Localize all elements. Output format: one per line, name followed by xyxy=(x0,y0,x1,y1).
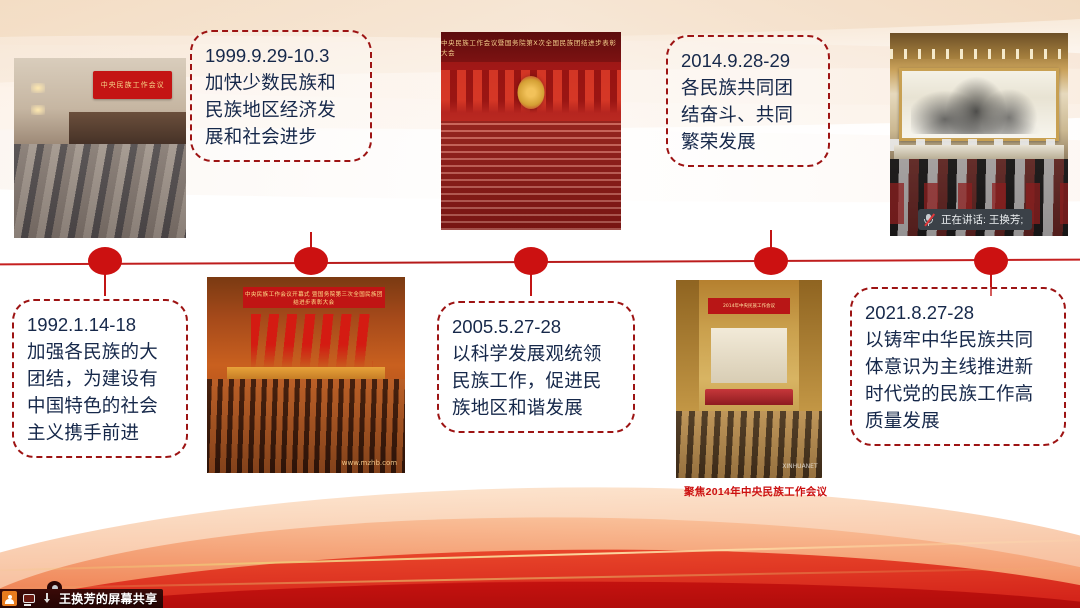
timeline-card-2021-date: 2021.8.27-28 xyxy=(865,299,1051,326)
timeline-card-2014[interactable]: 2014.9.28-29 各民族共同团 结奋斗、共同 繁荣发展 xyxy=(666,35,830,167)
timeline-card-2021-line-1: 以铸牢中华民族共同 xyxy=(865,326,1051,353)
timeline-card-1999[interactable]: 1999.9.29-10.3 加快少数民族和 民族地区经济发 展和社会进步 xyxy=(190,30,372,162)
photo-1992-conference: 中央民族工作会议 xyxy=(14,58,186,238)
timeline-card-2021-line-4: 质量发展 xyxy=(865,407,1051,434)
speaking-status-bar: 正在讲话: 王换芳; xyxy=(918,209,1032,230)
timeline-card-2014-line-3: 繁荣发展 xyxy=(681,128,815,155)
presidium-table xyxy=(705,389,793,405)
timeline-card-1992-line-1: 加强各民族的大 xyxy=(27,338,173,365)
screen-share-taskbar[interactable]: 王换芳的屏幕共享 xyxy=(0,589,163,608)
audience-seats xyxy=(14,144,186,238)
timeline-card-1999-line-2: 民族地区经济发 xyxy=(205,96,357,123)
photo-video-tile[interactable]: 正在讲话: 王换芳; xyxy=(890,33,1068,236)
red-flags xyxy=(251,314,374,369)
photo-2005-opening-ceremony: 中央民族工作会议开幕式 暨国务院第三次全国民族团结进步表彰大会 www.mzhb… xyxy=(207,277,405,473)
photo-2014-banner-text: 2014年中央民族工作会议 xyxy=(708,298,790,314)
timeline-card-2005[interactable]: 2005.5.27-28 以科学发展观统领 民族工作，促进民 族地区和谐发展 xyxy=(437,301,635,433)
timeline-card-2005-line-2: 民族工作，促进民 xyxy=(452,367,620,394)
timeline-card-1999-line-3: 展和社会进步 xyxy=(205,123,357,150)
screen-share-icon[interactable] xyxy=(21,591,36,606)
timeline-card-1992-line-3: 中国特色的社会 xyxy=(27,392,173,419)
timeline-card-2005-line-1: 以科学发展观统领 xyxy=(452,340,620,367)
timeline-node-2014[interactable] xyxy=(754,247,788,275)
screen-share-label: 王换芳的屏幕共享 xyxy=(59,590,157,607)
photo-2014-conference: 2014年中央民族工作会议 XINHUANET xyxy=(676,280,822,478)
side-panel-left xyxy=(676,280,699,423)
photo-2005-banner-text: 中央民族工作会议开幕式 暨国务院第三次全国民族团结进步表彰大会 xyxy=(243,287,386,309)
head-table xyxy=(894,145,1065,159)
mountain-artwork xyxy=(911,75,1047,134)
timeline-card-2021-line-3: 时代党的民族工作高 xyxy=(865,380,1051,407)
photo-1992-content: 中央民族工作会议 xyxy=(14,58,186,238)
chandelier-icon xyxy=(31,105,45,115)
photo-1999-content: 中央民族工作会议暨国务院第X次全国民族团结进步表彰大会 xyxy=(441,32,621,230)
speaking-label: 正在讲话: 王换芳; xyxy=(941,212,1023,227)
timeline-card-2014-line-2: 结奋斗、共同 xyxy=(681,101,815,128)
timeline-card-2014-line-1: 各民族共同团 xyxy=(681,74,815,101)
chandelier-icon xyxy=(31,83,45,93)
photo-1992-banner-text: 中央民族工作会议 xyxy=(93,71,172,100)
video-content xyxy=(890,33,1068,236)
timeline-node-1992[interactable] xyxy=(88,247,122,275)
ceiling-lights xyxy=(890,49,1068,59)
photo-1992-banner: 中央民族工作会议 xyxy=(93,71,172,100)
photo-2005-banner: 中央民族工作会议开幕式 暨国务院第三次全国民族团结进步表彰大会 xyxy=(243,287,386,309)
audience-rows xyxy=(441,121,621,230)
timeline-card-1992-line-2: 团结，为建设有 xyxy=(27,365,173,392)
timeline-card-1992[interactable]: 1992.1.14-18 加强各民族的大 团结，为建设有 中国特色的社会 主义携… xyxy=(12,299,188,458)
landscape-painting xyxy=(899,68,1059,141)
photo-2014-watermark: XINHUANET xyxy=(782,463,817,470)
timeline-card-2014-date: 2014.9.28-29 xyxy=(681,47,815,74)
slide-canvas: 中央民族工作会议 中央民族工作会议暨国务院第X次全国民族团结进步表彰大会 xyxy=(0,0,1080,608)
photo-2014-banner: 2014年中央民族工作会议 xyxy=(708,298,790,314)
photo-1999-great-hall: 中央民族工作会议暨国务院第X次全国民族团结进步表彰大会 xyxy=(441,32,621,230)
photo-2005-content: 中央民族工作会议开幕式 暨国务院第三次全国民族团结进步表彰大会 www.mzhb… xyxy=(207,277,405,473)
photo-2014-caption: 聚焦2014年中央民族工作会议 xyxy=(684,484,827,499)
timeline-card-1999-date: 1999.9.29-10.3 xyxy=(205,42,357,69)
timeline-node-1999[interactable] xyxy=(294,247,328,275)
timeline-node-2021[interactable] xyxy=(974,247,1008,275)
arrow-down-icon[interactable] xyxy=(40,591,55,606)
photo-1999-banner: 中央民族工作会议暨国务院第X次全国民族团结进步表彰大会 xyxy=(441,32,621,62)
timeline-card-1992-line-4: 主义携手前进 xyxy=(27,419,173,446)
person-icon[interactable] xyxy=(2,591,17,606)
timeline-card-1999-line-1: 加快少数民族和 xyxy=(205,69,357,96)
photo-2005-watermark: www.mzhb.com xyxy=(342,459,397,467)
national-emblem-icon xyxy=(518,76,545,110)
mic-muted-icon xyxy=(923,213,934,226)
side-panel-right xyxy=(799,280,822,423)
timeline-card-2005-line-3: 族地区和谐发展 xyxy=(452,394,620,421)
timeline-card-2021-line-2: 体意识为主线推进新 xyxy=(865,353,1051,380)
photo-1999-banner-text: 中央民族工作会议暨国务院第X次全国民族团结进步表彰大会 xyxy=(441,32,621,62)
timeline-card-2005-date: 2005.5.27-28 xyxy=(452,313,620,340)
projection-screen xyxy=(711,328,787,383)
timeline-card-1992-date: 1992.1.14-18 xyxy=(27,311,173,338)
timeline-card-2021[interactable]: 2021.8.27-28 以铸牢中华民族共同 体意识为主线推进新 时代党的民族工… xyxy=(850,287,1066,446)
timeline-node-2005[interactable] xyxy=(514,247,548,275)
photo-2014-content: 2014年中央民族工作会议 XINHUANET xyxy=(676,280,822,478)
